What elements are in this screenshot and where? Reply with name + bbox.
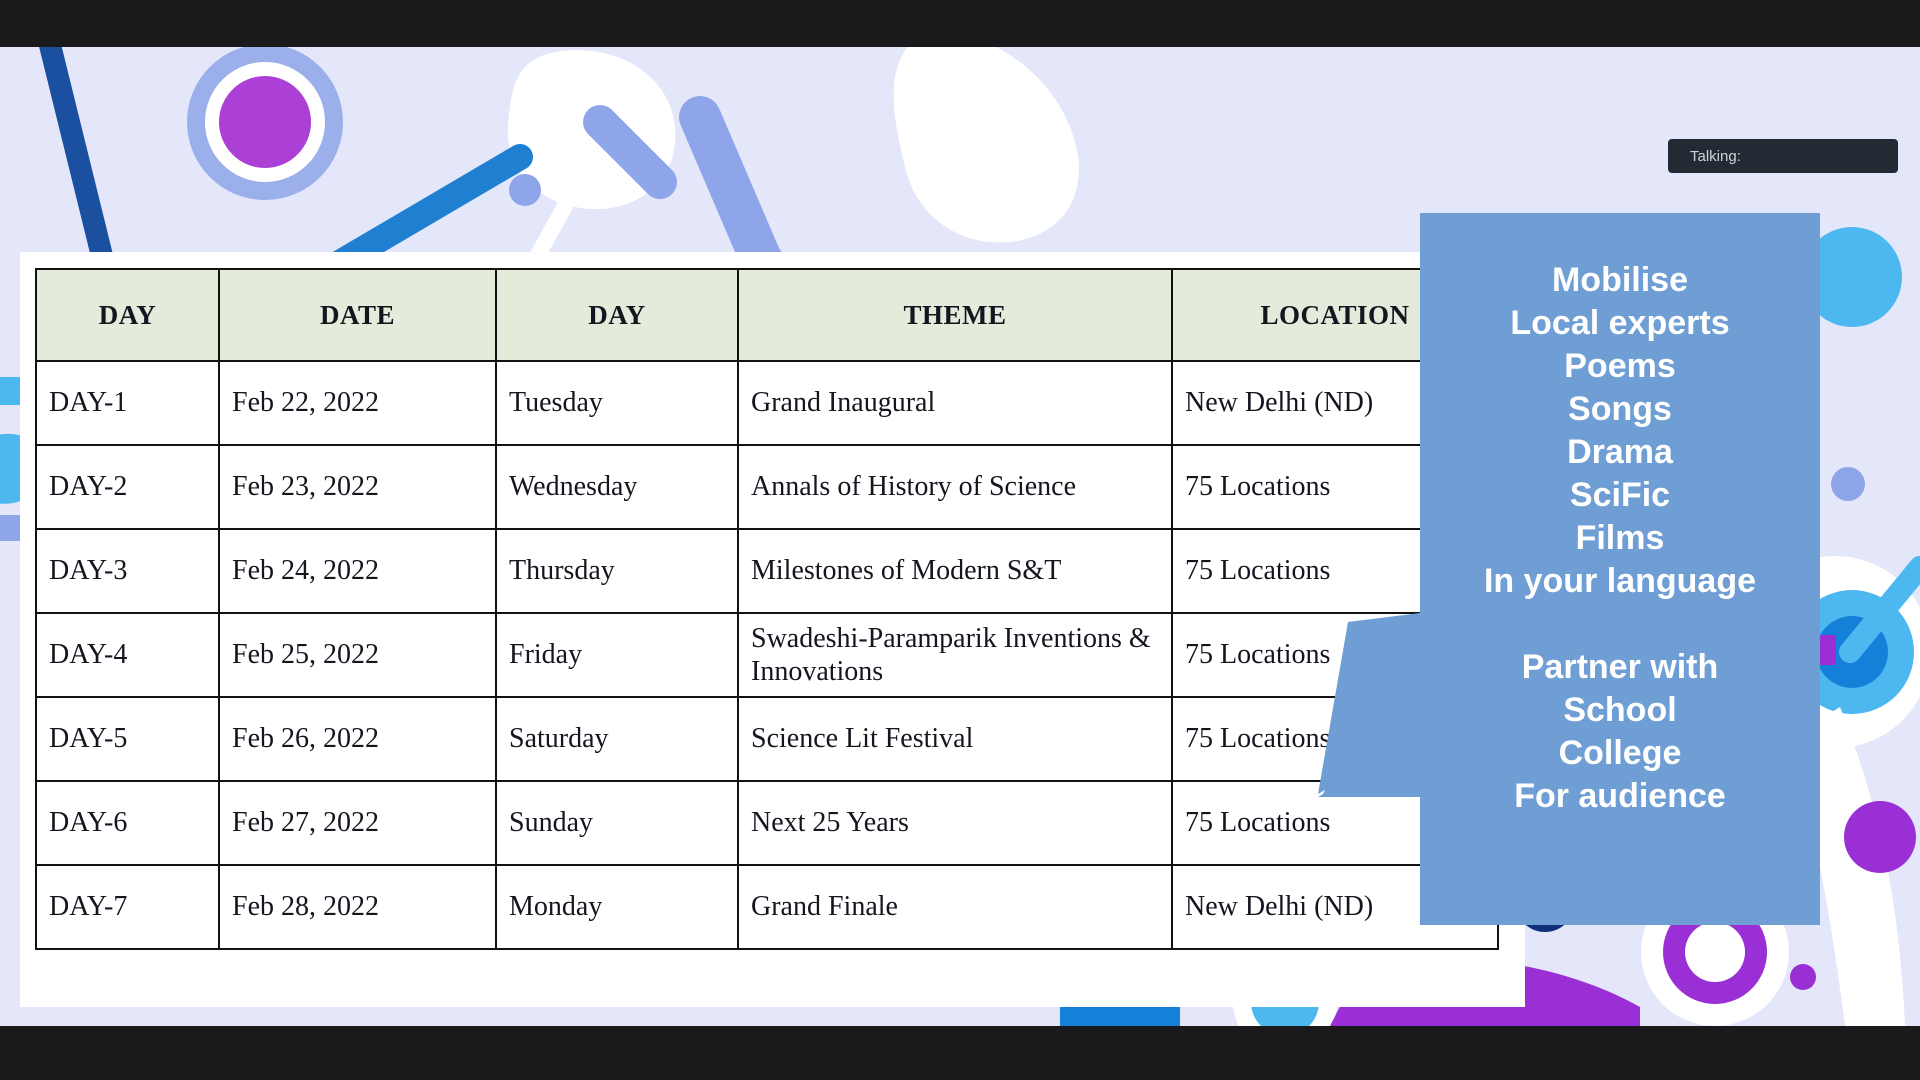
cell-theme: Grand Finale — [738, 865, 1172, 949]
table-row: DAY-6 Feb 27, 2022 Sunday Next 25 Years … — [36, 781, 1498, 865]
cell-weekday: Saturday — [496, 697, 738, 781]
callout-line: Drama — [1420, 431, 1820, 474]
cell-date: Feb 23, 2022 — [219, 445, 496, 529]
cell-day-number: DAY-3 — [36, 529, 219, 613]
cell-theme: Milestones of Modern S&T — [738, 529, 1172, 613]
table-row: DAY-2 Feb 23, 2022 Wednesday Annals of H… — [36, 445, 1498, 529]
cell-day-number: DAY-7 — [36, 865, 219, 949]
cell-date: Feb 22, 2022 — [219, 361, 496, 445]
cell-day-number: DAY-5 — [36, 697, 219, 781]
cell-date: Feb 27, 2022 — [219, 781, 496, 865]
table-row: DAY-1 Feb 22, 2022 Tuesday Grand Inaugur… — [36, 361, 1498, 445]
callout-line: Poems — [1420, 345, 1820, 388]
cell-theme: Swadeshi-Paramparik Inventions & Innovat… — [738, 613, 1172, 697]
column-header-date: DATE — [219, 269, 496, 361]
callout-line: Films — [1420, 517, 1820, 560]
callout-line: College — [1420, 732, 1820, 775]
event-schedule-table: DAY DATE DAY THEME LOCATION DAY-1 Feb 22… — [35, 268, 1499, 950]
callout-line: Songs — [1420, 388, 1820, 431]
cell-theme: Annals of History of Science — [738, 445, 1172, 529]
cell-weekday: Sunday — [496, 781, 738, 865]
cell-theme: Grand Inaugural — [738, 361, 1172, 445]
table-row: DAY-7 Feb 28, 2022 Monday Grand Finale N… — [36, 865, 1498, 949]
callout-line: Partner with — [1420, 646, 1820, 689]
table-header-row: DAY DATE DAY THEME LOCATION — [36, 269, 1498, 361]
cell-date: Feb 26, 2022 — [219, 697, 496, 781]
presenter-callout-panel: Mobilise Local experts Poems Songs Drama… — [1420, 213, 1820, 925]
letterbox-bar-top — [0, 0, 1920, 47]
cell-theme: Science Lit Festival — [738, 697, 1172, 781]
callout-line: In your language — [1420, 560, 1820, 603]
letterbox-bar-bottom — [0, 1026, 1920, 1080]
cell-weekday: Tuesday — [496, 361, 738, 445]
callout-spacer — [1420, 603, 1820, 646]
cell-theme: Next 25 Years — [738, 781, 1172, 865]
table-row: DAY-4 Feb 25, 2022 Friday Swadeshi-Param… — [36, 613, 1498, 697]
cell-day-number: DAY-2 — [36, 445, 219, 529]
cell-weekday: Thursday — [496, 529, 738, 613]
table-row: DAY-3 Feb 24, 2022 Thursday Milestones o… — [36, 529, 1498, 613]
cell-date: Feb 28, 2022 — [219, 865, 496, 949]
slide-content-card: DAY DATE DAY THEME LOCATION DAY-1 Feb 22… — [20, 252, 1525, 1007]
callout-line: SciFic — [1420, 474, 1820, 517]
column-header-weekday: DAY — [496, 269, 738, 361]
cell-weekday: Wednesday — [496, 445, 738, 529]
callout-line: Mobilise — [1420, 259, 1820, 302]
callout-line: For audience — [1420, 775, 1820, 818]
screen-capture: DAY DATE DAY THEME LOCATION DAY-1 Feb 22… — [0, 0, 1920, 1080]
column-header-day-number: DAY — [36, 269, 219, 361]
cell-weekday: Monday — [496, 865, 738, 949]
talking-indicator-label: Talking: — [1668, 148, 1741, 165]
callout-line: School — [1420, 689, 1820, 732]
talking-indicator-tooltip: Talking: — [1668, 139, 1898, 173]
cell-day-number: DAY-1 — [36, 361, 219, 445]
callout-pointer-tail — [1318, 612, 1428, 797]
presentation-slide: DAY DATE DAY THEME LOCATION DAY-1 Feb 22… — [0, 47, 1920, 1026]
callout-line: Local experts — [1420, 302, 1820, 345]
cell-day-number: DAY-6 — [36, 781, 219, 865]
column-header-theme: THEME — [738, 269, 1172, 361]
table-row: DAY-5 Feb 26, 2022 Saturday Science Lit … — [36, 697, 1498, 781]
cell-date: Feb 24, 2022 — [219, 529, 496, 613]
cell-weekday: Friday — [496, 613, 738, 697]
cell-day-number: DAY-4 — [36, 613, 219, 697]
cell-date: Feb 25, 2022 — [219, 613, 496, 697]
